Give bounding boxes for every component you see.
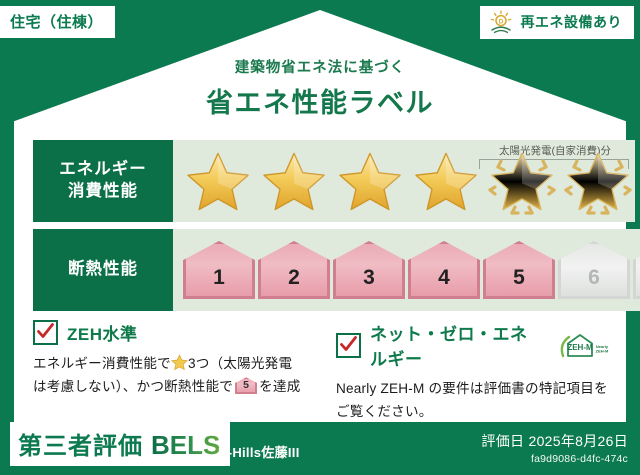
- zeh-standard-header: ZEH水準: [33, 320, 310, 345]
- zeh-desc-part-b: 3つ（太陽光発電: [188, 356, 292, 371]
- check-icon: [36, 322, 55, 341]
- energy-star-rating: 太陽光発電(自家消費)分: [173, 140, 635, 222]
- star-filled: [181, 148, 255, 214]
- title-subtitle: 建築物省エネ法に基づく: [0, 56, 640, 77]
- energy-performance-label: エネルギー 消費性能: [33, 140, 173, 222]
- grade-badge-inactive: 7: [633, 241, 640, 299]
- bels-logo-text: BELS: [151, 430, 220, 461]
- grade-badge-active: 2: [258, 241, 330, 299]
- bels-certification-bar: 第三者評価 BELS: [10, 422, 230, 466]
- grade-badge-inactive: 6: [558, 241, 630, 299]
- star-filled: [257, 148, 331, 214]
- star-icon: [339, 152, 401, 211]
- check-icon: [339, 335, 358, 354]
- building-name: D-Hills佐藤III: [218, 442, 300, 461]
- star-filled: [409, 148, 483, 214]
- bels-japanese-label: 第三者評価: [18, 426, 143, 461]
- net-zero-title: ネット・ゼロ・エネルギー: [370, 320, 544, 370]
- net-zero-energy-block: ネット・ゼロ・エネルギー ZEH-M Nearly ZEH-M Nearly Z…: [336, 320, 613, 424]
- star-filled: [333, 148, 407, 214]
- grade-number: 5: [513, 266, 525, 299]
- sun-renewable-icon: D: [488, 10, 514, 34]
- evaluation-date: 評価日 2025年8月26日: [481, 431, 628, 451]
- grade-badge-active: 3: [333, 241, 405, 299]
- star-icon: [567, 152, 629, 211]
- star-icon: [187, 152, 249, 211]
- insulation-grade-rating: 1234567: [173, 229, 640, 311]
- housing-type-tag: 住宅（住棟）: [0, 6, 115, 38]
- grade-badge-active: 5: [483, 241, 555, 299]
- svg-text:ZEH-M: ZEH-M: [567, 343, 593, 352]
- inline-grade-value: 5: [235, 376, 257, 394]
- zeh-m-logo: ZEH-M Nearly ZEH-M: [557, 330, 613, 360]
- net-zero-checkbox[interactable]: [336, 333, 361, 358]
- grade-number: 1: [213, 266, 225, 299]
- energy-performance-row: エネルギー 消費性能 太陽光発電(自家消費)分: [33, 140, 608, 222]
- zeh-standard-block: ZEH水準 エネルギー消費性能で3つ（太陽光発電は考慮しない）、かつ断熱性能で5…: [33, 320, 310, 424]
- net-zero-header: ネット・ゼロ・エネルギー ZEH-M Nearly ZEH-M: [336, 320, 613, 370]
- document-id: fa9d9086-d4fc-474c: [481, 453, 628, 465]
- bels-energy-label: 住宅（住棟） D 再エネ設備あり 建築物省エネ法に基づく 省エネ性能ラベル: [0, 0, 640, 475]
- star-icon: [415, 152, 477, 211]
- zeh-standard-title: ZEH水準: [67, 320, 138, 345]
- insulation-performance-row: 断熱性能 1234567: [33, 229, 608, 311]
- svg-text:D: D: [498, 18, 503, 25]
- renewable-equipment-badge: D 再エネ設備あり: [480, 6, 635, 39]
- evaluation-info: 評価日 2025年8月26日 fa9d9086-d4fc-474c: [481, 431, 628, 465]
- zeh-desc-part-d: を達成: [259, 379, 300, 394]
- label-title: 建築物省エネ法に基づく 省エネ性能ラベル: [0, 56, 640, 120]
- grade-number: 3: [363, 266, 375, 299]
- star-solar: [485, 148, 559, 214]
- star-list: [173, 140, 635, 222]
- inline-grade-badge: 5: [235, 377, 257, 394]
- grade-list: 1234567: [173, 229, 640, 311]
- grade-number: 2: [288, 266, 300, 299]
- insulation-performance-label: 断熱性能: [33, 229, 173, 311]
- star-icon: [263, 152, 325, 211]
- performance-rows: エネルギー 消費性能 太陽光発電(自家消費)分 断熱性能 1234567: [33, 140, 608, 318]
- star-icon: [491, 152, 553, 211]
- zeh-standard-description: エネルギー消費性能で3つ（太陽光発電は考慮しない）、かつ断熱性能で5を達成: [33, 352, 310, 399]
- grade-number: 6: [588, 266, 600, 299]
- insulation-label-text: 断熱性能: [68, 259, 138, 281]
- inline-star-icon: [171, 354, 188, 371]
- net-zero-description: Nearly ZEH-M の要件は評価書の特記項目をご覧ください。: [336, 377, 613, 424]
- svg-text:ZEH-M: ZEH-M: [596, 349, 609, 354]
- renewable-badge-label: 再エネ設備あり: [521, 12, 623, 32]
- energy-label-line1: エネルギー: [59, 159, 147, 181]
- title-main: 省エネ性能ラベル: [0, 81, 640, 120]
- grade-badge-active: 4: [408, 241, 480, 299]
- zeh-desc-part-c: は考慮しない）、かつ断熱性能で: [33, 379, 233, 394]
- grade-shape: [633, 241, 640, 299]
- grade-badge-active: 1: [183, 241, 255, 299]
- zeh-section: ZEH水準 エネルギー消費性能で3つ（太陽光発電は考慮しない）、かつ断熱性能で5…: [33, 320, 613, 424]
- grade-number: 4: [438, 266, 450, 299]
- star-solar: [561, 148, 635, 214]
- energy-label-line2: 消費性能: [68, 181, 138, 203]
- zeh-standard-checkbox[interactable]: [33, 320, 58, 345]
- zeh-desc-part-a: エネルギー消費性能で: [33, 356, 171, 371]
